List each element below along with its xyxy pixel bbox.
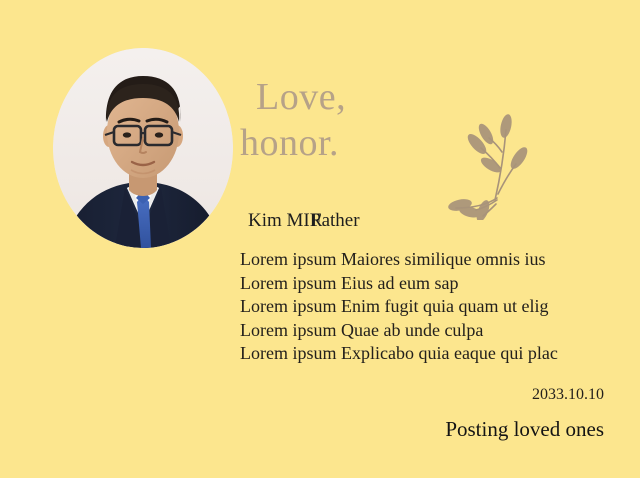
message-line: Lorem ipsum Eius ad eum sap [240,272,620,296]
portrait-illustration [53,48,233,248]
card-footer: 2033.10.10 Posting loved ones [304,384,604,444]
leaf-branch-illustration [448,108,548,220]
memorial-card: Love, honor. [0,0,640,478]
message-line: Lorem ipsum Enim fugit quia quam ut elig [240,295,620,319]
subject-identity: Kim MIR Father [248,210,548,234]
message-line: Lorem ipsum Maiores similique omnis ius [240,248,620,272]
message-line: Lorem ipsum Quae ab unde culpa [240,319,620,343]
subject-relation: Father [311,210,360,232]
leaf-branch-icon [448,108,548,220]
message-body: Lorem ipsum Maiores similique omnis ius … [240,248,620,366]
portrait-photo [53,48,233,248]
post-date: 2033.10.10 [304,384,604,406]
message-line: Lorem ipsum Explicabo quia eaque qui pla… [240,342,620,366]
footer-title: Posting loved ones [304,414,604,444]
